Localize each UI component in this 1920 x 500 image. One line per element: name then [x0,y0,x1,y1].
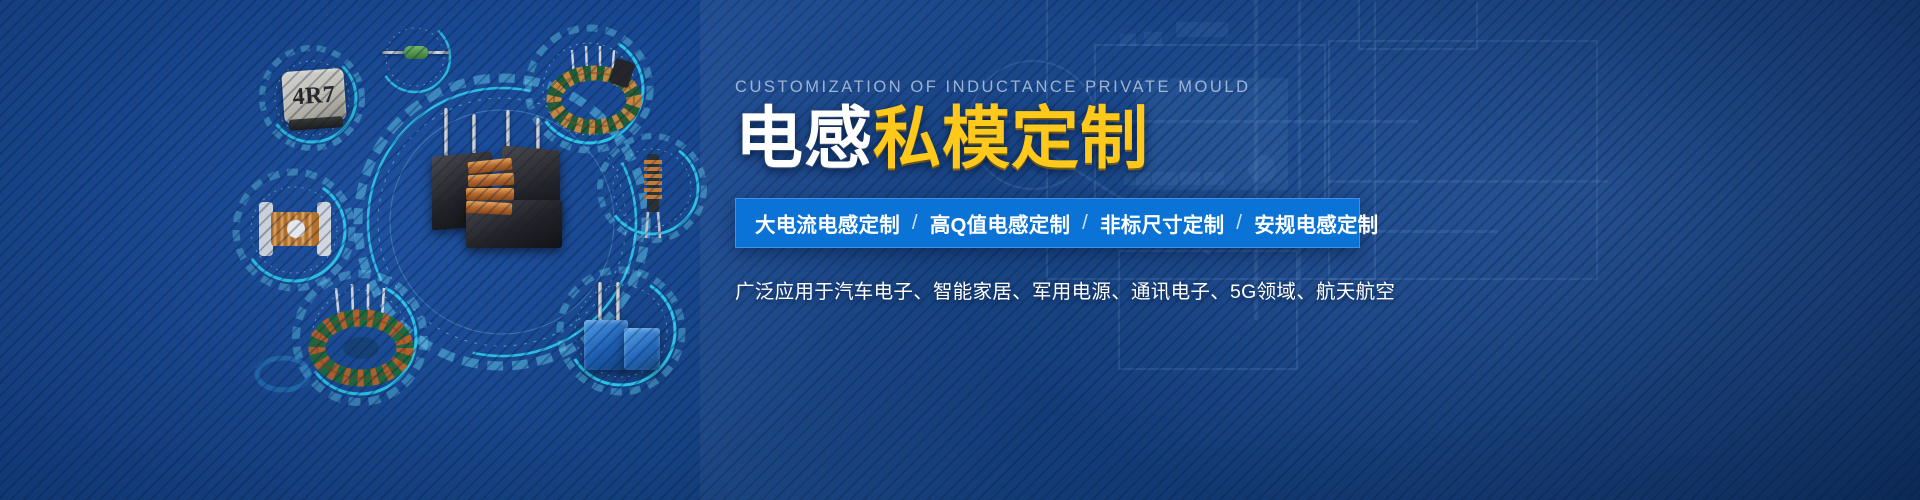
feature-item-0[interactable]: 大电流电感定制 [755,208,900,238]
product-blue-radial-inductor [576,282,668,378]
smd-chip-marking: 4R7 [281,68,346,124]
product-bobbin-coil [253,190,339,268]
eyebrow-text: CUSTOMIZATION OF INDUCTANCE PRIVATE MOUL… [735,78,1385,97]
product-common-mode-choke-hero [414,108,584,260]
headline-gold-part: 私模定制 [873,105,1149,176]
product-smd-inductor-4r7: 4R7 [283,70,345,122]
feature-item-2[interactable]: 非标尺寸定制 [1100,208,1224,238]
application-description: 广泛应用于汽车电子、智能家居、军用电源、通讯电子、5G领域、航天航空 [735,275,1385,304]
promo-banner: 4R7 [0,0,1920,500]
page-title: 电感 私模定制 [735,105,1385,176]
feature-separator-0: / [912,211,918,235]
feature-separator-2: / [1236,211,1242,235]
feature-list: 大电流电感定制 / 高Q值电感定制 / 非标尺寸定制 / 安规电感定制 [755,208,1378,238]
feature-item-1[interactable]: 高Q值电感定制 [930,208,1070,238]
product-toroidal-choke-bottom [306,282,422,392]
banner-content: CUSTOMIZATION OF INDUCTANCE PRIVATE MOUL… [735,78,1385,304]
feature-separator-1: / [1082,211,1088,235]
headline-white-part: 电感 [735,105,873,176]
feature-item-3[interactable]: 安规电感定制 [1254,208,1378,238]
feature-bar: 大电流电感定制 / 高Q值电感定制 / 非标尺寸定制 / 安规电感定制 [735,198,1360,248]
product-small-coil-accent [248,352,318,396]
product-rod-core-inductor [628,148,678,240]
product-axial-inductor [382,44,450,62]
